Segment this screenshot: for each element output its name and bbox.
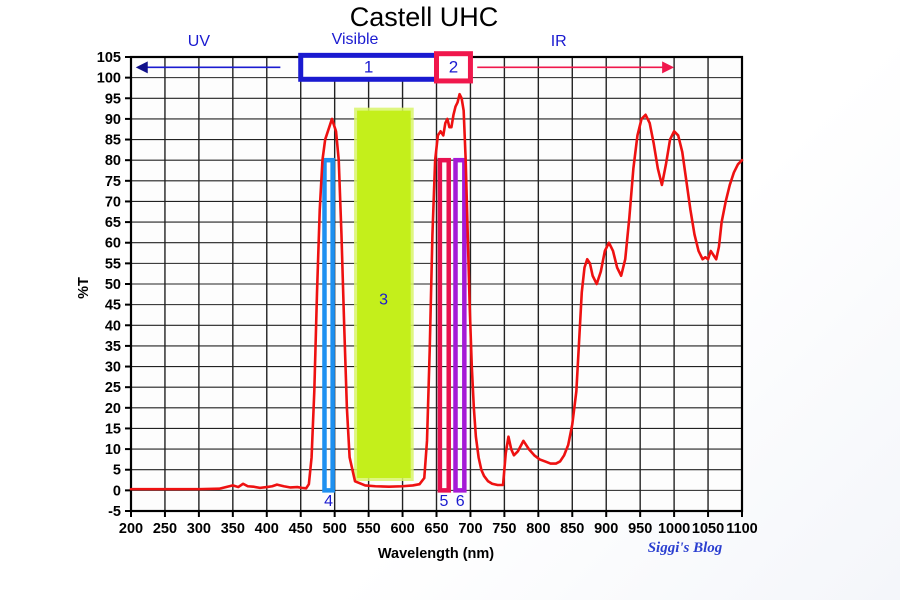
spectrum-chart: -505101520253035404550556065707580859095… — [0, 0, 900, 600]
x-axis-tick-label: 450 — [289, 521, 313, 537]
x-axis-tick-label: 1100 — [726, 521, 757, 537]
y-axis-tick-label: 85 — [105, 133, 121, 149]
x-axis-tick-label: 600 — [390, 521, 414, 537]
y-axis-tick-label: 75 — [105, 174, 121, 190]
visible-band-box-number: 1 — [364, 57, 373, 76]
marker-label-4: 4 — [324, 493, 333, 510]
y-axis-tick-label: 35 — [105, 339, 121, 355]
x-axis-tick-label: 200 — [119, 521, 143, 537]
x-axis-tick-label: 1000 — [658, 521, 690, 537]
y-axis-tick-label: 90 — [105, 112, 121, 128]
y-axis-tick-label: -5 — [108, 504, 121, 520]
x-axis-tick-label: 300 — [187, 521, 211, 537]
y-axis-tick-label: 30 — [105, 360, 121, 376]
y-axis-tick-label: 100 — [97, 71, 121, 87]
x-axis-tick-label: 900 — [594, 521, 618, 537]
y-axis-tick-label: 60 — [105, 236, 121, 252]
ir-band-label: IR — [551, 33, 567, 50]
y-axis-tick-label: 65 — [105, 215, 121, 231]
chart-title: Castell UHC — [350, 2, 499, 32]
marker-label-3: 3 — [379, 292, 388, 309]
x-axis-tick-label: 250 — [153, 521, 177, 537]
watermark-text: Siggi's Blog — [648, 540, 723, 556]
y-axis-tick-label: 25 — [105, 380, 121, 396]
x-axis-tick-label: 850 — [560, 521, 584, 537]
x-axis-tick-label: 650 — [424, 521, 448, 537]
x-axis-tick-label: 1050 — [692, 521, 724, 537]
y-axis-tick-label: 95 — [105, 91, 121, 107]
y-axis-tick-label: 0 — [113, 483, 121, 499]
y-axis-title: %T — [76, 277, 92, 299]
x-axis-tick-label: 950 — [628, 521, 652, 537]
y-axis-tick-label: 15 — [105, 421, 121, 437]
x-axis-tick-label: 500 — [323, 521, 347, 537]
y-axis-tick-label: 80 — [105, 153, 121, 169]
y-axis-tick-label: 45 — [105, 298, 121, 314]
x-axis-tick-label: 800 — [526, 521, 550, 537]
x-axis-tick-label: 400 — [255, 521, 279, 537]
y-axis-tick-label: 10 — [105, 442, 121, 458]
uv-band-label: UV — [188, 33, 211, 50]
y-axis-tick-label: 105 — [97, 50, 121, 66]
y-axis-tick-label: 20 — [105, 401, 121, 417]
y-axis-tick-label: 70 — [105, 194, 121, 210]
chart-canvas: -505101520253035404550556065707580859095… — [0, 0, 900, 600]
x-axis-tick-label: 750 — [492, 521, 516, 537]
x-axis-title: Wavelength (nm) — [378, 546, 494, 562]
y-axis-tick-label: 40 — [105, 318, 121, 334]
x-axis-tick-label: 700 — [458, 521, 482, 537]
y-axis-tick-label: 50 — [105, 277, 121, 293]
y-axis-tick-label: 55 — [105, 256, 121, 272]
near-ir-band-box-number: 2 — [449, 57, 458, 76]
x-axis-tick-label: 350 — [221, 521, 245, 537]
visible-band-label: Visible — [332, 31, 379, 48]
marker-label-5: 5 — [440, 493, 449, 510]
marker-label-6: 6 — [456, 493, 465, 510]
y-axis-tick-label: 5 — [113, 463, 121, 479]
x-axis-tick-label: 550 — [357, 521, 381, 537]
